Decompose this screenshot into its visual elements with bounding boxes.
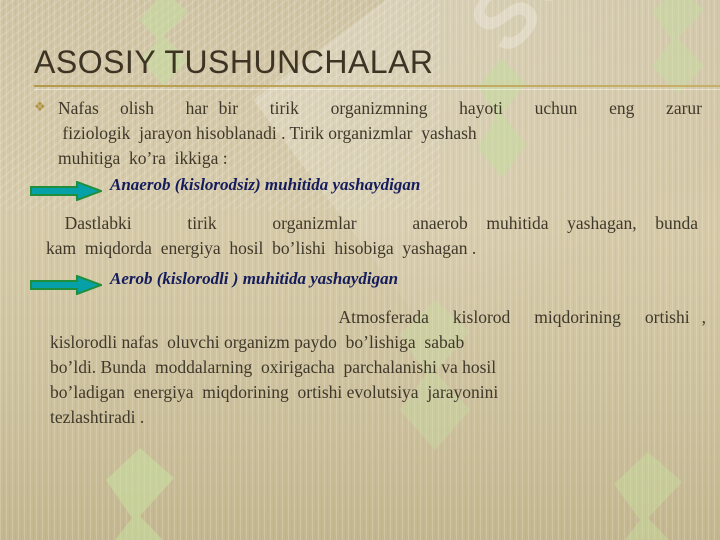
- right-arrow-icon: [30, 181, 102, 201]
- paragraph-3-line-4: bo’ladigan energiya miqdorining ortishi …: [50, 380, 706, 405]
- paragraph-2-line-1: Dastlabki tirik organizmlar anaerob muhi…: [46, 211, 698, 236]
- slide-body: ❖ Nafas olish har bir tirik organizmning…: [0, 96, 720, 430]
- title-underline: [34, 85, 720, 87]
- title-underline-highlight: [34, 89, 720, 90]
- slide-title-block: ASOSIY TUSHUNCHALAR: [0, 44, 720, 90]
- callout-anaerob: Anaerob (kislorodsiz) muhitida yashaydig…: [0, 175, 720, 205]
- diamond-bullet-icon: ❖: [34, 101, 45, 112]
- paragraph-2-line-2: kam miqdorda energiya hosil bo’lishi his…: [46, 236, 698, 261]
- callout-aerob: Aerob (kislorodli ) muhitida yashaydigan: [0, 269, 720, 299]
- paragraph-1-line-3: muhitiga ko’ra ikkiga :: [58, 146, 702, 171]
- angular-k-logo-icon: [596, 452, 700, 540]
- page-title-text: ASOSIY TUSHUNCHALAR: [34, 44, 434, 80]
- angular-k-logo-icon: [86, 448, 194, 540]
- paragraph-2: Dastlabki tirik organizmlar anaerob muhi…: [0, 211, 720, 261]
- paragraph-3-line-3: bo’ldi. Bunda moddalarning oxirigacha pa…: [50, 355, 706, 380]
- paragraph-3-line-5: tezlashtiradi .: [50, 405, 706, 430]
- paragraph-3-line-2: kislorodli nafas oluvchi organizm paydo …: [50, 330, 706, 355]
- paragraph-1-line-1: Nafas olish har bir tirik organizmning h…: [58, 96, 702, 121]
- page-title: ASOSIY TUSHUNCHALAR: [34, 44, 434, 81]
- right-arrow-icon: [30, 275, 102, 295]
- paragraph-1: ❖ Nafas olish har bir tirik organizmning…: [0, 96, 720, 171]
- paragraph-3-line-1: Atmosferada kislorod miqdorining ortishi…: [50, 305, 706, 330]
- paragraph-3: Atmosferada kislorod miqdorining ortishi…: [0, 305, 720, 430]
- paragraph-1-line-2: fiziologik jarayon hisoblanadi . Tirik o…: [58, 121, 702, 146]
- callout-aerob-label: Aerob (kislorodli ) muhitida yashaydigan: [110, 269, 398, 289]
- slide-canvas: SOFT SOFT ASOSIY TUSHUNCHALAR ❖ Nafas ol…: [0, 0, 720, 540]
- callout-anaerob-label: Anaerob (kislorodsiz) muhitida yashaydig…: [110, 175, 420, 195]
